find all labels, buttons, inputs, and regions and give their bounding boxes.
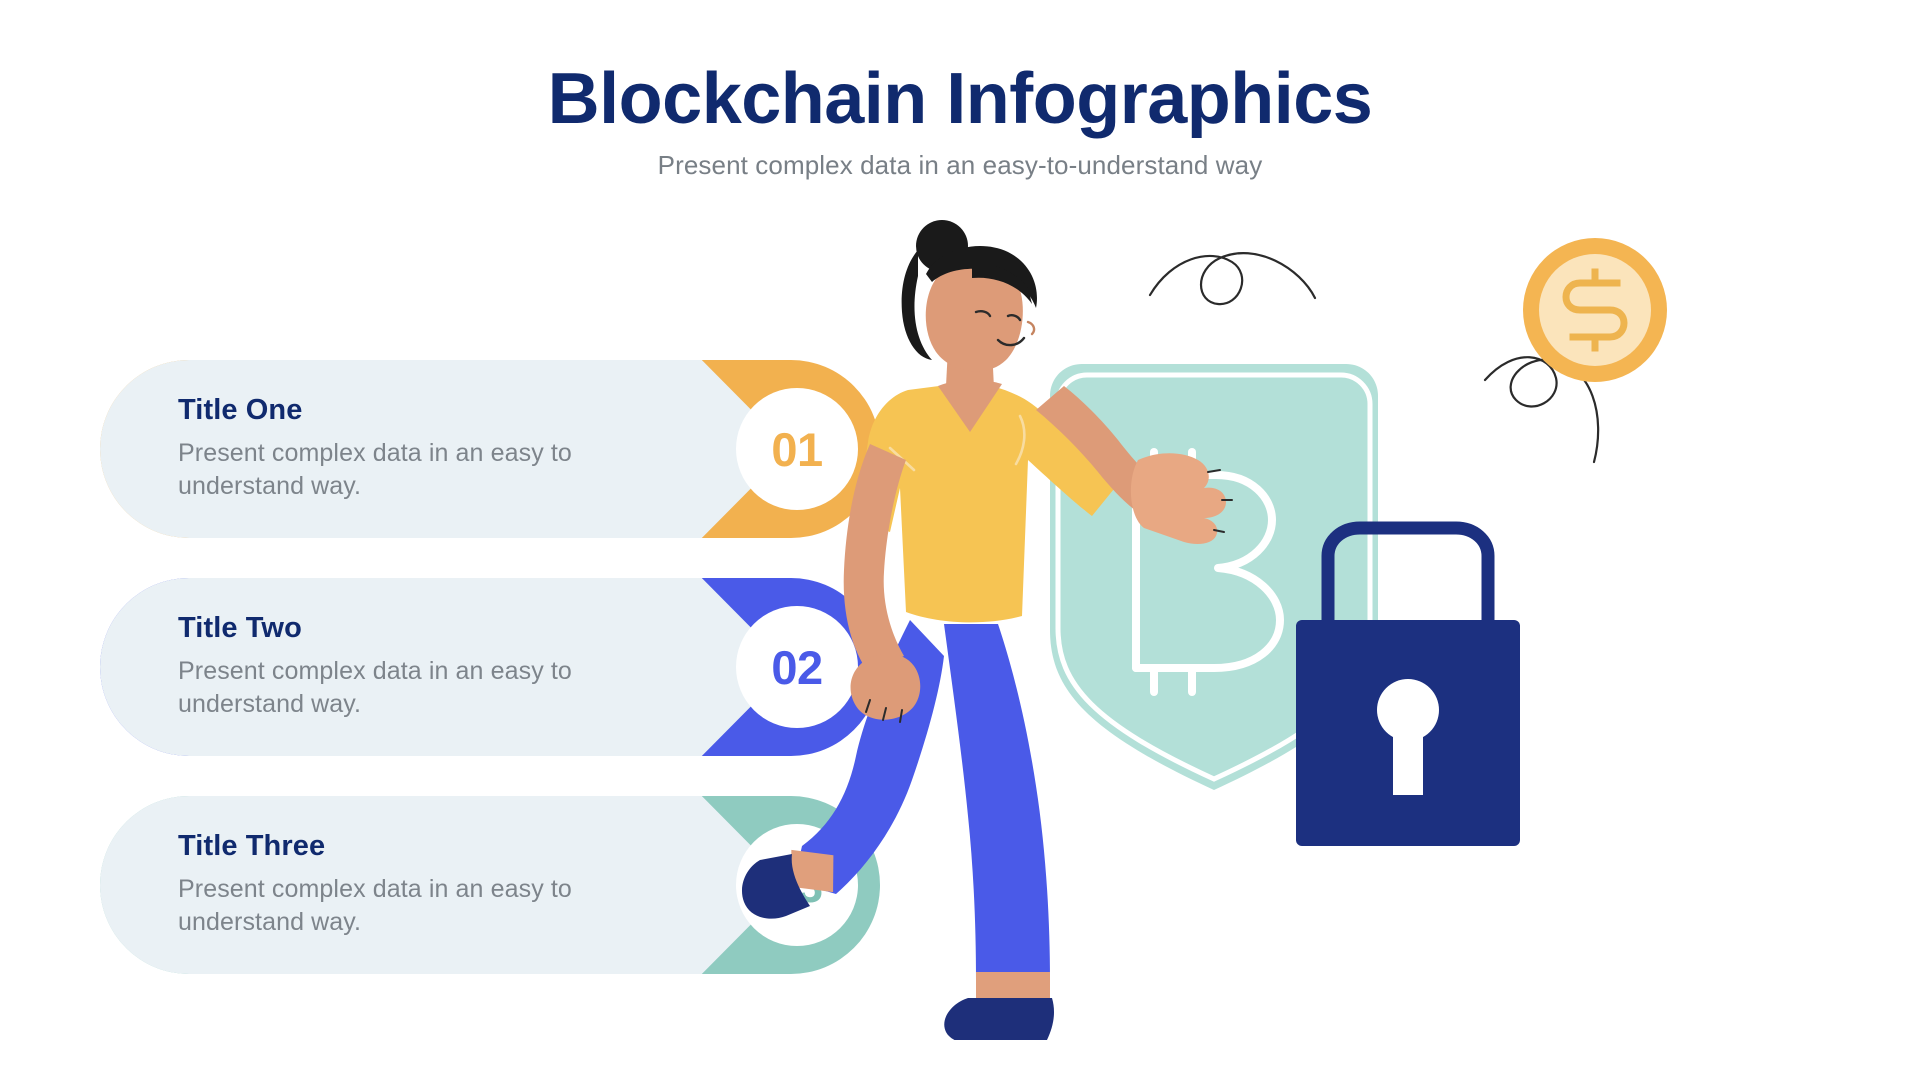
dollar-coin-icon <box>1523 238 1667 382</box>
card-text-block-1: Title One Present complex data in an eas… <box>178 394 648 504</box>
slide-header: Blockchain Infographics Present complex … <box>0 62 1920 181</box>
card-text-block-2: Title Two Present complex data in an eas… <box>178 612 648 722</box>
padlock-icon <box>1296 528 1520 846</box>
page-subtitle: Present complex data in an easy-to-under… <box>0 150 1920 181</box>
card-description: Present complex data in an easy to under… <box>178 873 648 940</box>
card-title: Title Two <box>178 612 648 645</box>
page-title: Blockchain Infographics <box>0 62 1920 138</box>
blockchain-illustration <box>740 220 1920 1040</box>
slide-canvas: Blockchain Infographics Present complex … <box>0 0 1920 1080</box>
card-description: Present complex data in an easy to under… <box>178 437 648 504</box>
card-title: Title Three <box>178 830 648 863</box>
card-text-block-3: Title Three Present complex data in an e… <box>178 830 648 940</box>
card-title: Title One <box>178 394 648 427</box>
card-description: Present complex data in an easy to under… <box>178 655 648 722</box>
